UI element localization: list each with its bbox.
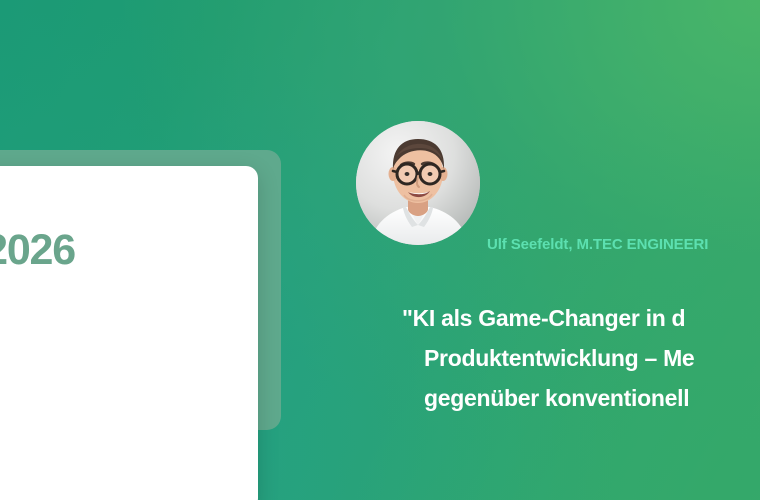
quote-line-3: gegenüber konventionell (402, 378, 760, 418)
speaker-name-label: Ulf Seefeldt, M.TEC ENGINEERI (487, 236, 708, 253)
event-card-title: gießen 2026 (0, 228, 75, 273)
event-card[interactable]: ung gießen 2026 sensforum (0, 166, 258, 500)
quote-text: "KI als Game-Changer in d Produktentwick… (402, 298, 760, 418)
event-card-content: ung gießen 2026 sensforum (0, 166, 258, 500)
portrait-photo (356, 121, 480, 245)
quote-line-2: Produktentwicklung – Me (402, 338, 760, 378)
promo-banner: ung gießen 2026 sensforum (0, 0, 760, 500)
speaker-portrait (356, 121, 480, 245)
quote-line-1: "KI als Game-Changer in d (402, 298, 760, 338)
